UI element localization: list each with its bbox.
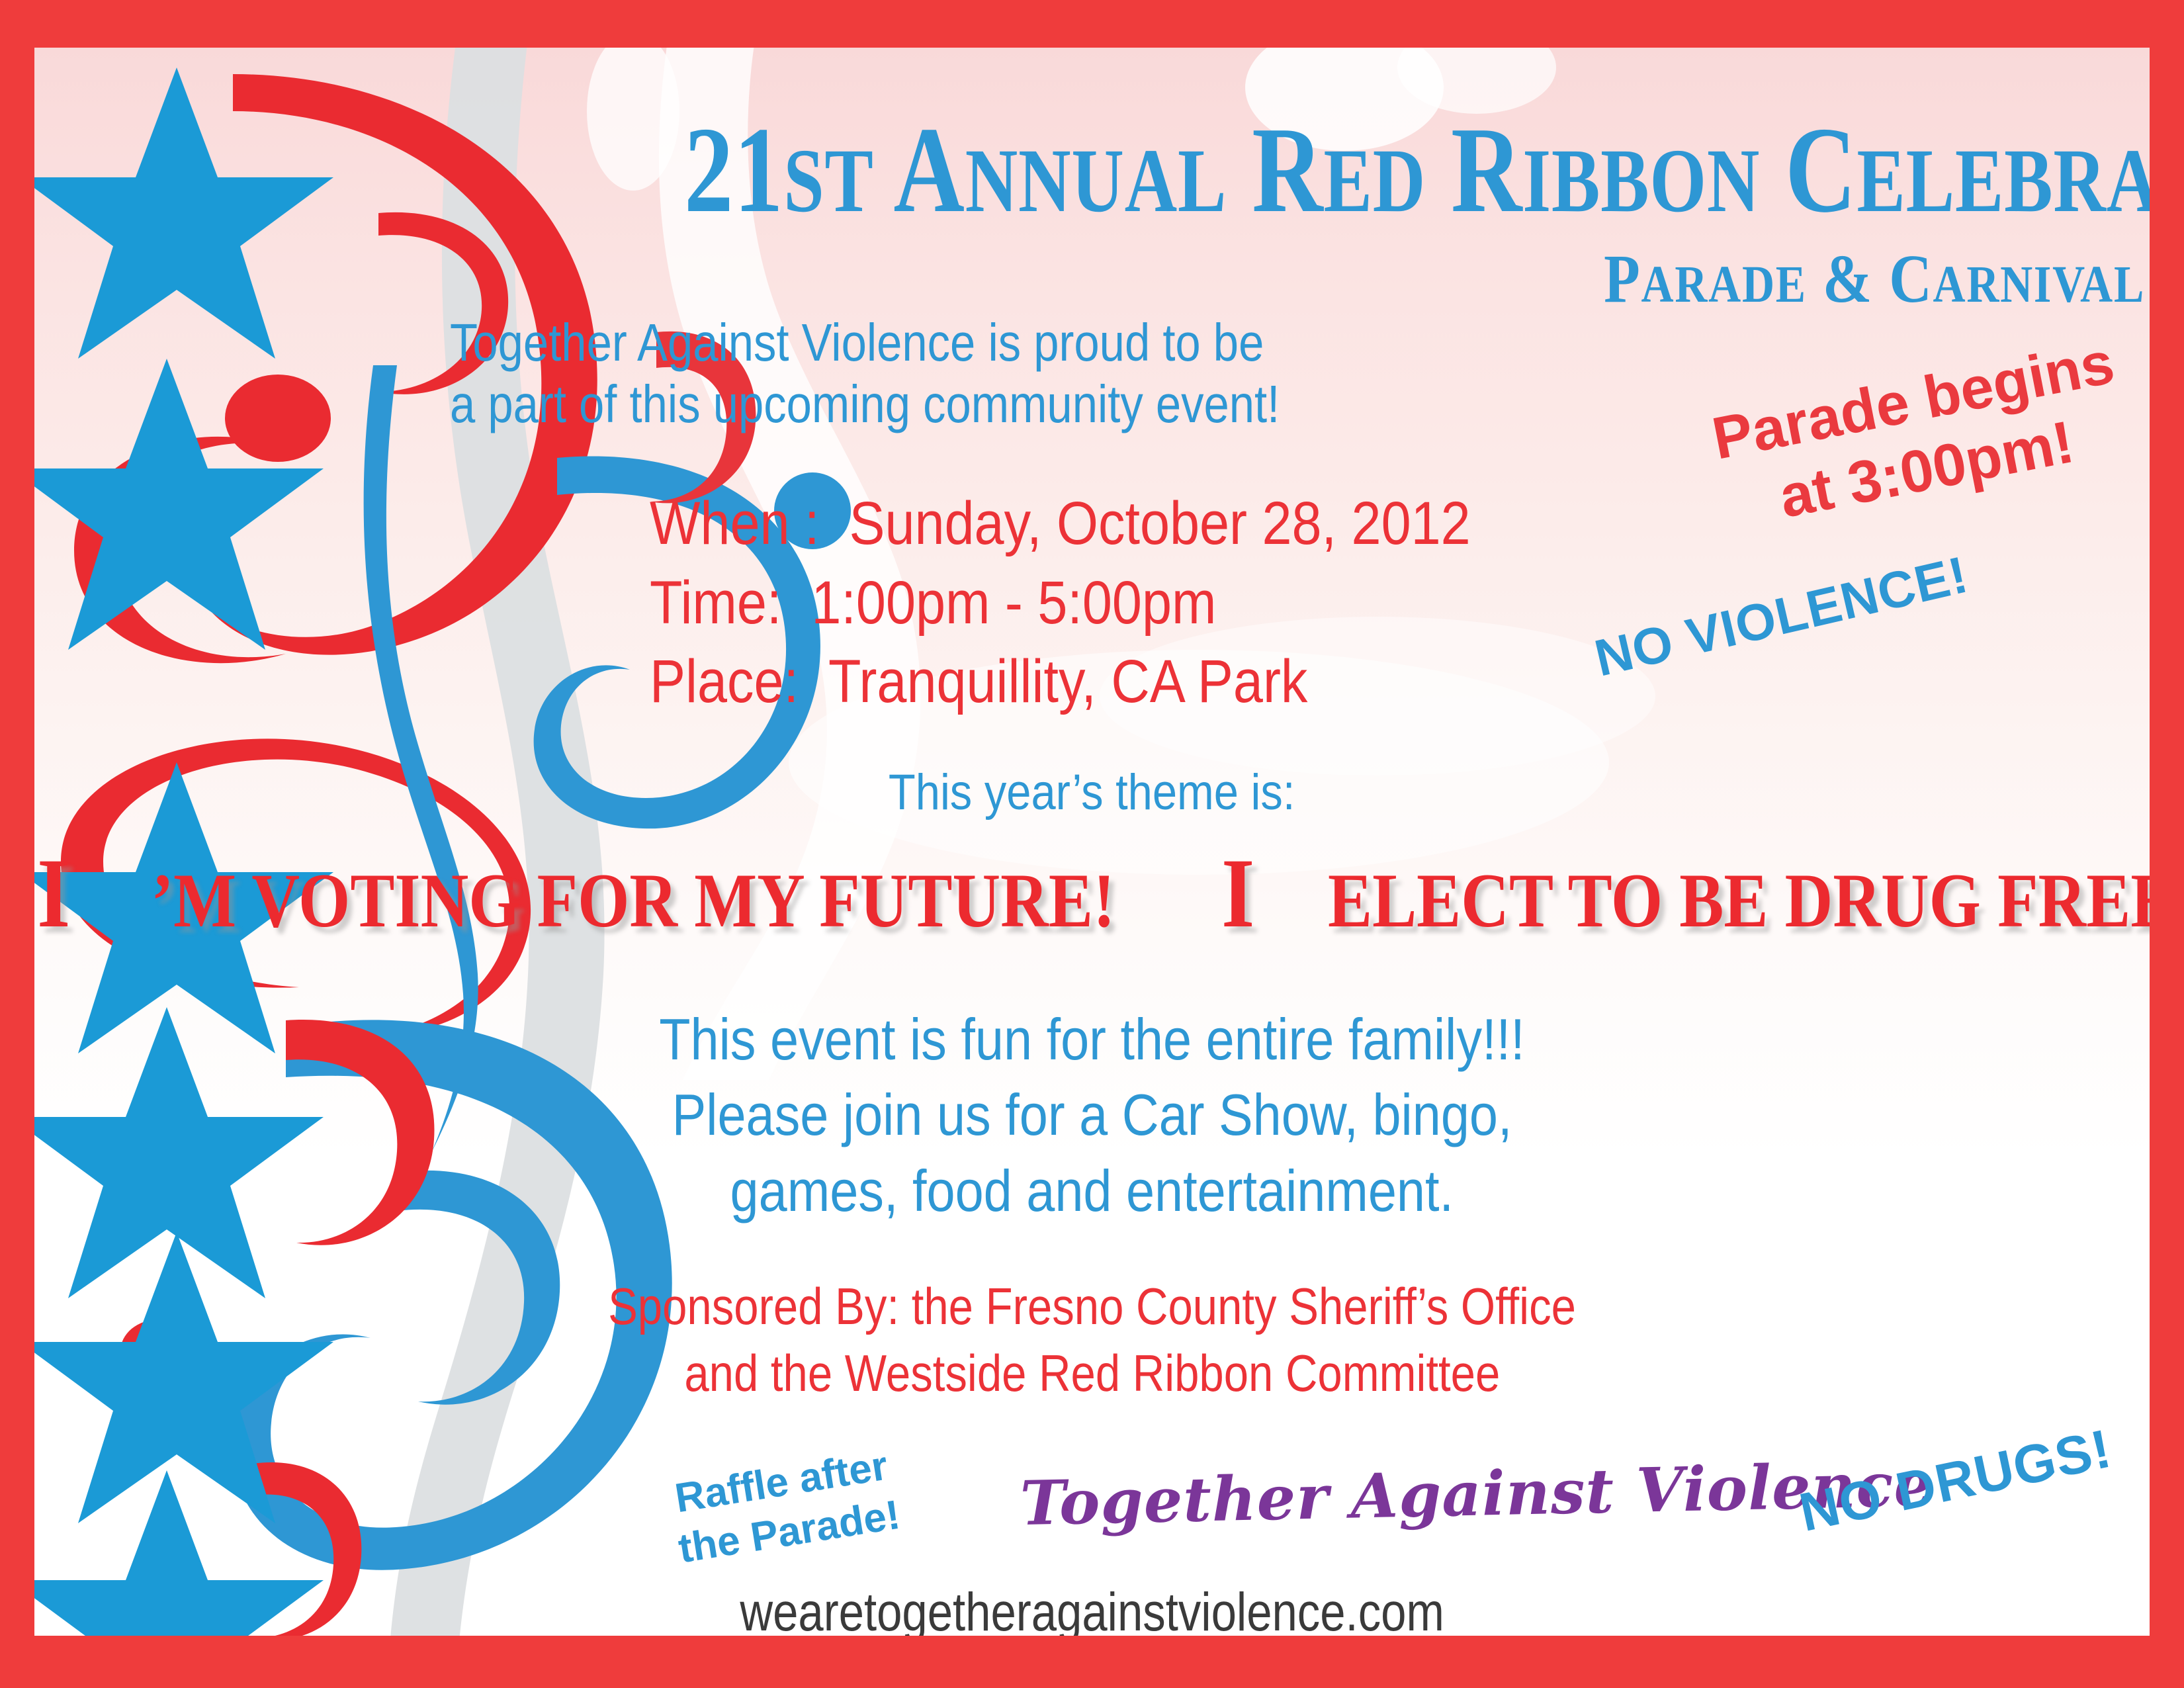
subtitle-carnival-cap: C — [1889, 241, 1933, 317]
theme-headline: I’M VOTING FOR MY FUTURE! I ELECT TO BE … — [34, 836, 2150, 950]
red-dot-upper — [225, 375, 331, 462]
place-label: Place: — [650, 643, 799, 722]
sponsor-line-1-wrap: Sponsored By: the Fresno County Sheriff’… — [34, 1273, 2150, 1340]
body-line-1-wrap: This event is fun for the entire family!… — [34, 1002, 2150, 1077]
intro-line-2: a part of this upcoming community event! — [450, 374, 1280, 435]
body-line-3: games, food and entertainment. — [730, 1153, 1454, 1229]
website-url-text[interactable]: wearetogetheragainstviolence.com — [740, 1581, 1444, 1636]
flyer-poster: 21ST ANNUAL RED RIBBON CELEBRATION PARAD… — [0, 0, 2184, 1688]
white-blob-c — [587, 48, 679, 191]
subtitle-parade-cap: P — [1604, 241, 1641, 317]
poster-panel: 21ST ANNUAL RED RIBBON CELEBRATION PARAD… — [34, 48, 2150, 1636]
title-ribbon-cap: R — [1451, 102, 1522, 238]
intro-line-1: Together Against Violence is proud to be — [450, 312, 1280, 374]
when-value: Sunday, October 28, 2012 — [849, 490, 1470, 557]
website-url[interactable]: wearetogetheragainstviolence.com — [34, 1581, 2150, 1636]
title-celebration-cap: C — [1785, 102, 1856, 238]
theme-part-b-cap: I — [1221, 836, 1254, 950]
place-value: Tranquillity, CA Park — [828, 648, 1307, 715]
body-line-1: This event is fun for the entire family!… — [659, 1002, 1524, 1077]
title-annual-cap: A — [893, 102, 965, 238]
sponsor-line-2-wrap: and the Westside Red Ribbon Committee — [34, 1340, 2150, 1407]
subtitle-parade-rest: ARADE — [1641, 256, 1807, 314]
theme-part-a-cap: I — [37, 836, 70, 950]
time-value: 1:00pm - 5:00pm — [811, 569, 1216, 637]
subtitle-carnival-rest: ARNIVAL — [1933, 256, 2145, 314]
blue-star-2 — [34, 359, 324, 650]
body-line-2-wrap: Please join us for a Car Show, bingo, — [34, 1077, 2150, 1153]
blue-star-1 — [34, 67, 333, 359]
page-subtitle: PARADE & CARNIVAL — [574, 240, 2145, 318]
title-ordinal: ST — [783, 130, 873, 231]
theme-label: This year’s theme is: — [34, 764, 2150, 821]
sponsor-line-2: and the Westside Red Ribbon Committee — [684, 1340, 1500, 1407]
title-number: 21 — [684, 102, 783, 238]
parade-time-callout: Parade begins at 3:00pm! — [1640, 315, 2150, 556]
red-ring-mid — [74, 437, 286, 663]
sponsor-block: Sponsored By: the Fresno County Sheriff’… — [34, 1273, 2150, 1407]
detail-row-when: When : Sunday, October 28, 2012 — [650, 484, 1471, 564]
theme-part-b: ELECT TO BE DRUG FREE! — [1328, 857, 2150, 946]
no-violence-callout: NO VIOLENCE! — [1589, 545, 1974, 689]
time-label: Time: — [650, 564, 781, 643]
intro-paragraph: Together Against Violence is proud to be… — [450, 312, 1280, 435]
theme-part-a: ’M VOTING FOR MY FUTURE! — [152, 857, 1115, 946]
body-line-2: Please join us for a Car Show, bingo, — [672, 1077, 1512, 1153]
title-annual-rest: NNUAL — [965, 130, 1227, 231]
no-drugs-callout: NO DRUGS! — [1794, 1418, 2117, 1544]
title-red-rest: ED — [1323, 130, 1426, 231]
organization-logo-text: Together Against Violence — [1020, 1453, 1722, 1539]
when-label: When : — [650, 484, 819, 564]
body-paragraph: This event is fun for the entire family!… — [34, 1002, 2150, 1229]
body-line-3-wrap: games, food and entertainment. — [34, 1153, 2150, 1229]
detail-row-place: Place: Tranquillity, CA Park — [650, 643, 1471, 722]
title-ribbon-rest: IBBON — [1522, 130, 1760, 231]
detail-row-time: Time: 1:00pm - 5:00pm — [650, 564, 1471, 643]
event-details: When : Sunday, October 28, 2012 Time: 1:… — [650, 484, 1471, 722]
title-red-cap: R — [1252, 102, 1323, 238]
sponsor-line-1: Sponsored By: the Fresno County Sheriff’… — [608, 1273, 1576, 1340]
raffle-callout: Raffle after the Parade! — [624, 1433, 947, 1581]
theme-label-text: This year’s theme is: — [889, 764, 1295, 821]
title-celebration-rest: ELEBRATION — [1856, 130, 2150, 231]
page-title: 21ST ANNUAL RED RIBBON CELEBRATION — [684, 114, 2145, 227]
subtitle-ampersand: & — [1823, 241, 1873, 317]
